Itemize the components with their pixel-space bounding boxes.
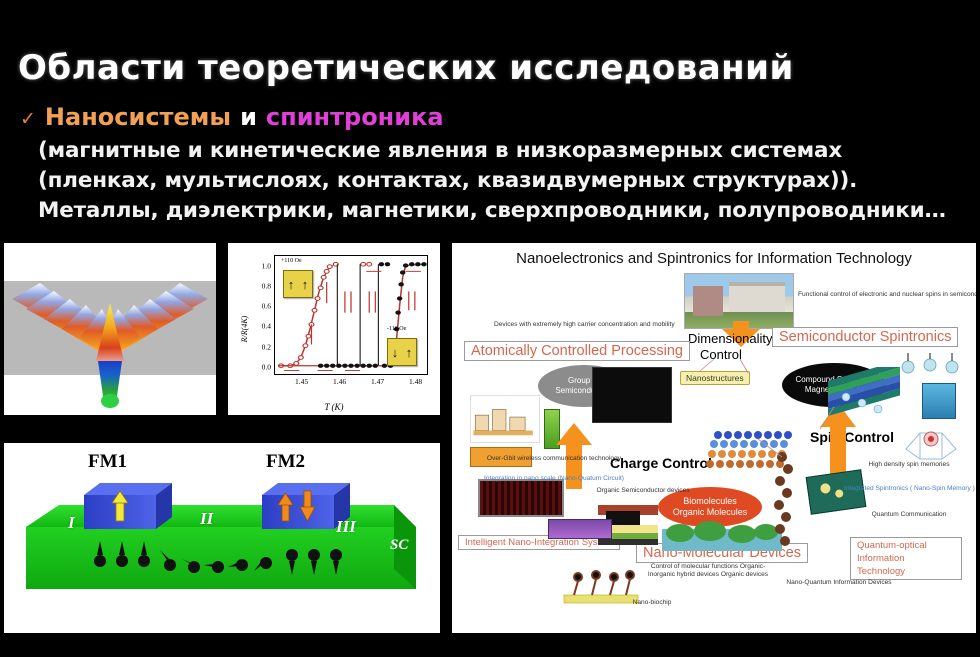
- paragraph-line-1: (магнитные и кинетические явления в низк…: [38, 136, 968, 166]
- box-nanostructures[interactable]: Nanostructures: [680, 371, 750, 385]
- chart-y-tick: 0.2: [262, 342, 271, 351]
- body-paragraph: (магнитные и кинетические явления в низк…: [38, 136, 968, 226]
- paragraph-line-3: Металлы, диэлектрики, магнетики, сверхпр…: [38, 196, 968, 226]
- roadmap-figure: Nanoelectronics and Spintronics for Info…: [452, 243, 976, 633]
- caption-high-carrier: Devices with extremely high carrier conc…: [494, 321, 664, 329]
- chart-y-axis-label: R/R(4K): [240, 316, 249, 343]
- dna-chain-icon: [768, 451, 798, 547]
- chart-x-tick: 1.48: [409, 377, 422, 386]
- chart-annotation-minus110: -110 Oe: [387, 326, 406, 332]
- conjunction: и: [240, 103, 257, 131]
- arrow-up-icon: ↑: [302, 278, 309, 291]
- box-atomically-controlled-processing[interactable]: Atomically Controlled Processing: [464, 341, 690, 361]
- resistance-chart: R/R(4K) T (K) 1.0 0.8 0.6 0.4 0.2 0.0 1.…: [228, 243, 440, 415]
- check-mark-icon: ✓: [20, 108, 36, 130]
- label-region-i: I: [68, 513, 75, 533]
- surface-plot: [4, 243, 216, 415]
- chart-y-tick: 0.8: [262, 281, 271, 290]
- chart-y-tick: 0.6: [262, 302, 271, 311]
- label-fm2: FM2: [266, 451, 305, 473]
- chart-x-tick: 1.45: [295, 377, 308, 386]
- surface-mesh-icon: [4, 243, 216, 415]
- box-semiconductor-spintronics[interactable]: Semiconductor Spintronics: [772, 327, 958, 347]
- label-region-iii: III: [336, 517, 356, 537]
- box-quantum-optical-it[interactable]: Quantum-optical Information Technology: [850, 537, 962, 580]
- keyword-nanosystems: Наносистемы: [45, 103, 231, 131]
- caption-nano-biochip: Nano-biochip: [622, 599, 682, 607]
- caption-organic-semiconductor-devices: Organic Semiconductor devices: [588, 487, 698, 495]
- fm-sc-illustration: [4, 443, 440, 633]
- spin-qubit-icons: [898, 353, 962, 383]
- keyword-spintronics: спинтроника: [266, 103, 444, 131]
- control-dimensionality-2: Control: [700, 347, 742, 362]
- process-sketch: [470, 395, 540, 443]
- chart-x-tick: 1.46: [333, 377, 346, 386]
- resistance-chart-panel: R/R(4K) T (K) 1.0 0.8 0.6 0.4 0.2 0.0 1.…: [228, 243, 440, 415]
- chart-annotation-plus110: +110 Oe: [281, 258, 302, 264]
- chart-plot-area: 1.0 0.8 0.6 0.4 0.2 0.0 1.45 1.46 1.47 1…: [274, 255, 428, 375]
- molecule-network-icon: [896, 419, 966, 465]
- nanolayer-stack-icon: [704, 421, 824, 479]
- magnetic-multilayer-icon: [828, 367, 900, 421]
- purple-film-photo: [548, 519, 612, 539]
- chart-x-axis-label: T (K): [228, 402, 440, 412]
- control-dimensionality: Dimensionality: [688, 331, 773, 346]
- paragraph-line-2: (пленках, мультислоях, контактах, квазид…: [38, 166, 968, 196]
- factory-icon: [471, 396, 539, 442]
- sem-image: [592, 367, 672, 423]
- fm-sc-diagram-panel: FM1 FM2 I II III SC: [4, 443, 440, 633]
- caption-quantum-communication: Quantum Communication: [844, 511, 974, 519]
- fm-sc-diagram: FM1 FM2 I II III SC: [4, 443, 440, 633]
- arrow-up-icon: ↑: [406, 346, 413, 359]
- roadmap-panel: Nanoelectronics and Spintronics for Info…: [452, 243, 976, 633]
- biomolecule-blobs-icon: [662, 515, 782, 551]
- integrated-circuit-photo: [478, 479, 564, 517]
- caption-functional-control: Functional control of electronic and nuc…: [798, 291, 968, 299]
- caption-control-molecular-functions: Control of molecular functions Organic-I…: [638, 563, 778, 579]
- chart-y-tick: 0.0: [262, 362, 271, 371]
- nano-biochip-icon: [562, 555, 642, 605]
- chart-x-tick: 1.47: [371, 377, 384, 386]
- spin-inset-down-up: ↓ ↑: [387, 338, 417, 366]
- arrow-up-icon: ↑: [288, 278, 295, 291]
- label-fm1: FM1: [88, 451, 127, 473]
- label-region-ii: II: [200, 509, 213, 529]
- surface-plot-panel: [4, 243, 216, 415]
- chart-y-tick: 1.0: [262, 261, 271, 270]
- roadmap-title: Nanoelectronics and Spintronics for Info…: [452, 250, 976, 267]
- label-sc: SC: [390, 537, 408, 554]
- caption-integration-nano-scale: Integration in nano scale (Nano-Quatum C…: [474, 475, 634, 483]
- arrow-down-icon: ↓: [392, 346, 399, 359]
- caption-integrated-spintronics: Integrated Spintronics ( Nano-Spin Memor…: [844, 485, 974, 493]
- bullet-line: ✓ Наносистемы и спинтроника: [20, 103, 444, 131]
- caption-over-gbit: Over-Gbit wireless communication technol…: [474, 455, 634, 463]
- caption-nano-quantum-info-devices: Nano-Quantum Information Devices: [764, 579, 914, 587]
- caption-high-density-spin-memories: High density spin memories: [844, 461, 974, 469]
- page-title: Области теоретических исследований: [18, 48, 794, 88]
- spin-inset-up-up: ↑ ↑: [283, 270, 313, 298]
- blue-device-block: [922, 383, 956, 419]
- chart-y-tick: 0.4: [262, 322, 271, 331]
